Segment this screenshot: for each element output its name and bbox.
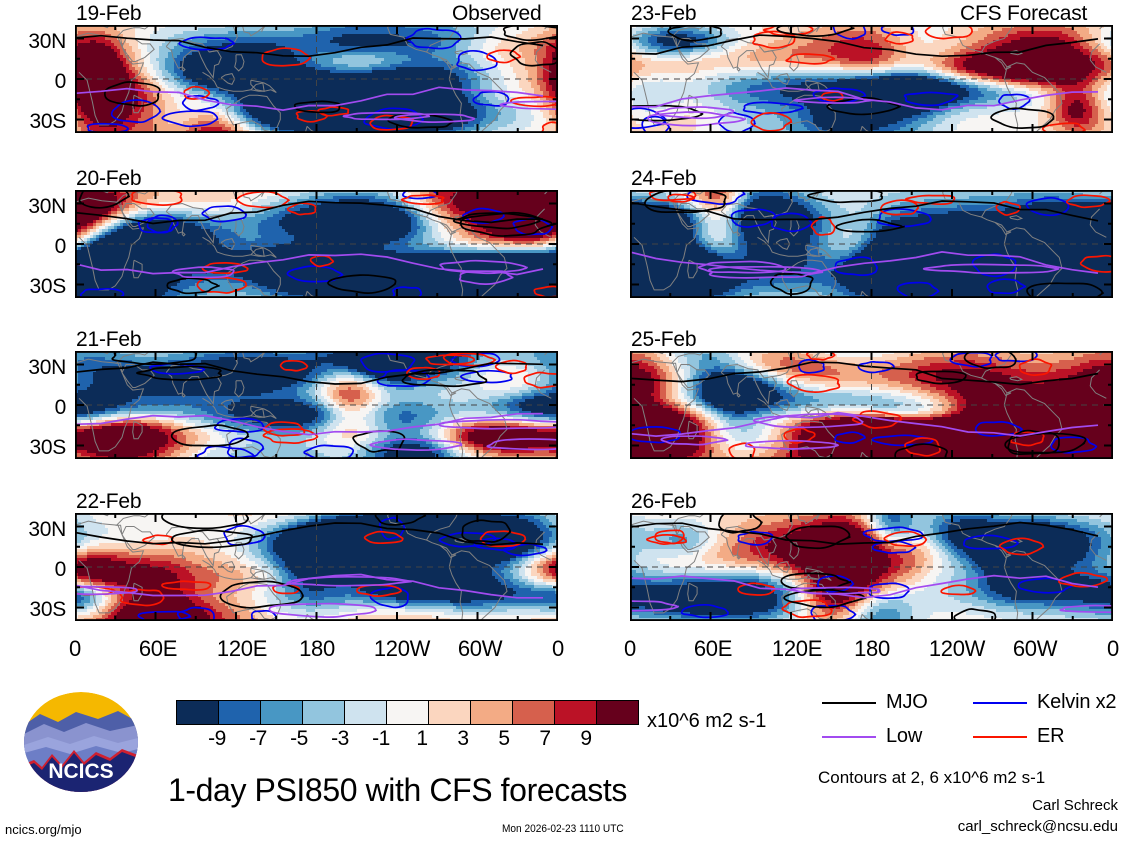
- legend-label-er: ER: [1037, 725, 1064, 748]
- y-tick-30s-row1: 30S: [2, 110, 66, 134]
- x-tick-120e-left: 120E: [203, 636, 281, 662]
- legend-label-low: Low: [886, 725, 922, 748]
- x-tick-60w-right: 60W: [1002, 636, 1068, 662]
- colorbar-tick-1: 1: [416, 727, 427, 751]
- colorbar-segment-2: [260, 701, 302, 724]
- y-tick-30n-row1: 30N: [2, 30, 66, 54]
- y-tick-30n-row3: 30N: [2, 356, 66, 380]
- x-tick-0-left: 0: [45, 636, 105, 662]
- colorbar-segment-9: [554, 701, 596, 724]
- map-panel-23-feb[interactable]: [630, 25, 1113, 138]
- main-title: 1-day PSI850 with CFS forecasts: [168, 772, 627, 809]
- y-tick-30s-row2: 30S: [2, 275, 66, 299]
- panel-title-24-feb: 24-Feb: [631, 167, 696, 191]
- y-tick-30n-row2: 30N: [2, 195, 66, 219]
- column-header-observed: Observed: [452, 2, 541, 26]
- panel-title-22-feb: 22-Feb: [76, 490, 141, 514]
- map-panel-25-feb[interactable]: [630, 351, 1113, 464]
- legend-label-kelvin: Kelvin x2: [1037, 691, 1116, 714]
- x-tick-60e-left: 60E: [125, 636, 191, 662]
- colorbar-unit-label: x10^6 m2 s-1: [647, 710, 766, 733]
- map-plot-area: [75, 351, 558, 459]
- author-email[interactable]: carl_schreck@ncsu.edu: [813, 818, 1118, 835]
- colorbar-segment-8: [512, 701, 554, 724]
- colorbar-tick-9: 9: [580, 727, 591, 751]
- x-tick-180-left: 180: [287, 636, 347, 662]
- colorbar-tick-3: 3: [457, 727, 468, 751]
- colorbar-segments: [176, 700, 639, 725]
- y-tick-0-row1: 0: [2, 70, 66, 94]
- y-tick-0-row3: 0: [2, 396, 66, 420]
- y-tick-30s-row3: 30S: [2, 436, 66, 460]
- colorbar-tick--3: -3: [331, 727, 349, 751]
- x-tick-120e-right: 120E: [758, 636, 836, 662]
- colorbar-tick--7: -7: [249, 727, 267, 751]
- map-panel-24-feb[interactable]: [630, 190, 1113, 303]
- contour-note: Contours at 2, 6 x10^6 m2 s-1: [818, 768, 1045, 788]
- author-name: Carl Schreck: [813, 797, 1118, 814]
- map-panel-22-feb[interactable]: [75, 513, 558, 626]
- panel-title-19-feb: 19-Feb: [76, 2, 141, 26]
- panel-title-25-feb: 25-Feb: [631, 328, 696, 352]
- timestamp: Mon 2026-02-23 1110 UTC: [502, 823, 624, 835]
- legend-item-low[interactable]: Low: [822, 725, 922, 748]
- colorbar-segment-0: [177, 701, 218, 724]
- x-tick-0-right: 0: [600, 636, 660, 662]
- legend-item-kelvin[interactable]: Kelvin x2: [973, 691, 1116, 714]
- map-plot-area: [630, 351, 1113, 459]
- colorbar-segment-4: [344, 701, 386, 724]
- map-plot-area: [630, 513, 1113, 621]
- legend-swatch-er: [973, 736, 1027, 738]
- column-header-cfs-forecast: CFS Forecast: [960, 2, 1087, 26]
- colorbar-segment-5: [386, 701, 428, 724]
- colorbar-segment-7: [470, 701, 512, 724]
- colorbar-tick--5: -5: [290, 727, 308, 751]
- colorbar-tick-7: 7: [539, 727, 550, 751]
- colorbar-tick--9: -9: [208, 727, 226, 751]
- panel-title-23-feb: 23-Feb: [631, 2, 696, 26]
- colorbar-tick--1: -1: [372, 727, 390, 751]
- colorbar-tick-5: 5: [498, 727, 509, 751]
- ncics-logo-text: NCICS: [48, 760, 113, 783]
- x-tick-60w-left: 60W: [447, 636, 513, 662]
- map-panel-21-feb[interactable]: [75, 351, 558, 464]
- ncics-logo[interactable]: NCICS: [18, 692, 144, 792]
- map-panel-20-feb[interactable]: [75, 190, 558, 303]
- legend-item-mjo[interactable]: MJO: [822, 691, 928, 714]
- legend-swatch-low: [822, 736, 876, 738]
- panel-title-26-feb: 26-Feb: [631, 490, 696, 514]
- colorbar-segment-10: [596, 701, 638, 724]
- y-tick-0-row4: 0: [2, 558, 66, 582]
- legend-item-er[interactable]: ER: [973, 725, 1064, 748]
- colorbar-segment-3: [302, 701, 344, 724]
- y-tick-30n-row4: 30N: [2, 518, 66, 542]
- map-plot-area: [75, 25, 558, 133]
- x-tick-180-right: 180: [842, 636, 902, 662]
- ncics-logo-graphic: NCICS: [18, 692, 144, 792]
- x-tick-120w-left: 120W: [363, 636, 441, 662]
- y-tick-30s-row4: 30S: [2, 598, 66, 622]
- panel-title-20-feb: 20-Feb: [76, 167, 141, 191]
- x-tick-60e-right: 60E: [680, 636, 746, 662]
- x-tick-120w-right: 120W: [918, 636, 996, 662]
- colorbar-segment-1: [218, 701, 260, 724]
- x-tick-0-right-l: 0: [528, 636, 588, 662]
- map-plot-area: [75, 513, 558, 621]
- colorbar-segment-6: [428, 701, 470, 724]
- colorbar-tick-labels: -9-7-5-3-113579: [176, 725, 639, 753]
- map-panel-26-feb[interactable]: [630, 513, 1113, 626]
- legend-swatch-kelvin: [973, 702, 1027, 704]
- map-plot-area: [630, 25, 1113, 133]
- map-plot-area: [630, 190, 1113, 298]
- site-url[interactable]: ncics.org/mjo: [5, 822, 82, 837]
- x-tick-0-far: 0: [1083, 636, 1135, 662]
- panel-title-21-feb: 21-Feb: [76, 328, 141, 352]
- colorbar: -9-7-5-3-113579: [176, 700, 639, 753]
- map-plot-area: [75, 190, 558, 298]
- map-panel-19-feb[interactable]: [75, 25, 558, 138]
- y-tick-0-row2: 0: [2, 235, 66, 259]
- legend-label-mjo: MJO: [886, 691, 928, 714]
- legend-swatch-mjo: [822, 702, 876, 704]
